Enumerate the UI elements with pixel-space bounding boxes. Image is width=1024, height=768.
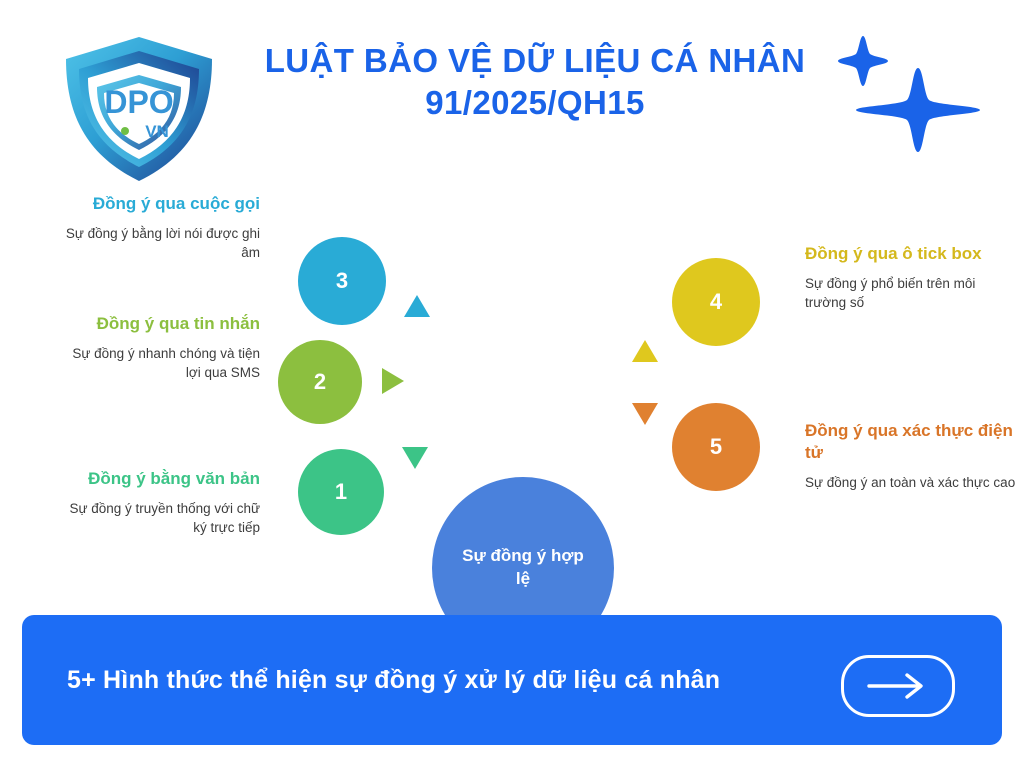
header: DPO VN LUẬT BẢO VỆ DỮ LIỆU CÁ NHÂN 91/20… — [0, 0, 1024, 185]
node-1-number: 1 — [335, 481, 347, 503]
sparkle-large-icon — [856, 68, 980, 152]
node-3-number: 3 — [336, 270, 348, 292]
node-4-number: 4 — [710, 291, 722, 313]
node-1-description: Sự đồng ý truyền thống với chữ ký trực t… — [55, 499, 260, 537]
dpo-logo: DPO VN — [62, 33, 217, 185]
node-5-heading: Đồng ý qua xác thực điện tử — [805, 420, 1020, 464]
center-label: Sự đồng ý hợp lệ — [458, 545, 588, 591]
node-5-description: Sự đồng ý an toàn và xác thực cao — [805, 473, 1020, 492]
arrow-triangle-up-blue — [404, 295, 430, 317]
label-group-1: Đồng ý bằng văn bản Sự đồng ý truyền thố… — [55, 468, 260, 537]
node-5-number: 5 — [710, 436, 722, 458]
title-line-1: LUẬT BẢO VỆ DỮ LIỆU CÁ NHÂN — [225, 40, 845, 82]
arrow-triangle-right-green — [382, 368, 404, 394]
node-circle-1[interactable]: 1 — [298, 449, 384, 535]
consent-diagram: Đồng ý qua cuộc gọi Sự đồng ý bằng lời n… — [0, 185, 1024, 605]
arrow-triangle-up-yellow — [632, 340, 658, 362]
node-2-number: 2 — [314, 371, 326, 393]
node-4-description: Sự đồng ý phổ biến trên môi trường số — [805, 274, 1020, 312]
logo-suffix-text: VN — [145, 122, 169, 141]
label-group-5: Đồng ý qua xác thực điện tử Sự đồng ý an… — [805, 420, 1020, 492]
node-2-heading: Đồng ý qua tin nhắn — [55, 313, 260, 335]
node-circle-2[interactable]: 2 — [278, 340, 362, 424]
sparkle-small-icon — [838, 36, 888, 86]
arrow-right-button[interactable] — [841, 655, 955, 717]
logo-dot-icon — [121, 127, 129, 135]
node-3-heading: Đồng ý qua cuộc gọi — [55, 193, 260, 215]
arrow-triangle-down-orange — [632, 403, 658, 425]
node-3-description: Sự đồng ý bằng lời nói được ghi âm — [55, 224, 260, 262]
arrow-right-icon — [867, 673, 929, 699]
shield-logo-icon: DPO VN — [62, 33, 217, 185]
logo-brand-text: DPO — [104, 84, 173, 120]
label-group-3: Đồng ý qua cuộc gọi Sự đồng ý bằng lời n… — [55, 193, 260, 262]
node-circle-4[interactable]: 4 — [672, 258, 760, 346]
arrow-triangle-down-green — [402, 447, 428, 469]
node-circle-3[interactable]: 3 — [298, 237, 386, 325]
node-circle-5[interactable]: 5 — [672, 403, 760, 491]
title-line-2: 91/2025/QH15 — [225, 82, 845, 124]
node-1-heading: Đồng ý bằng văn bản — [55, 468, 260, 490]
page-title: LUẬT BẢO VỆ DỮ LIỆU CÁ NHÂN 91/2025/QH15 — [225, 40, 845, 124]
node-2-description: Sự đồng ý nhanh chóng và tiện lợi qua SM… — [55, 344, 260, 382]
banner-text: 5+ Hình thức thể hiện sự đồng ý xử lý dữ… — [67, 615, 720, 745]
bottom-banner[interactable]: 5+ Hình thức thể hiện sự đồng ý xử lý dữ… — [22, 615, 1002, 745]
label-group-4: Đồng ý qua ô tick box Sự đồng ý phổ biến… — [805, 243, 1020, 312]
label-group-2: Đồng ý qua tin nhắn Sự đồng ý nhanh chón… — [55, 313, 260, 382]
node-4-heading: Đồng ý qua ô tick box — [805, 243, 1020, 265]
sparkle-decoration — [828, 28, 998, 173]
